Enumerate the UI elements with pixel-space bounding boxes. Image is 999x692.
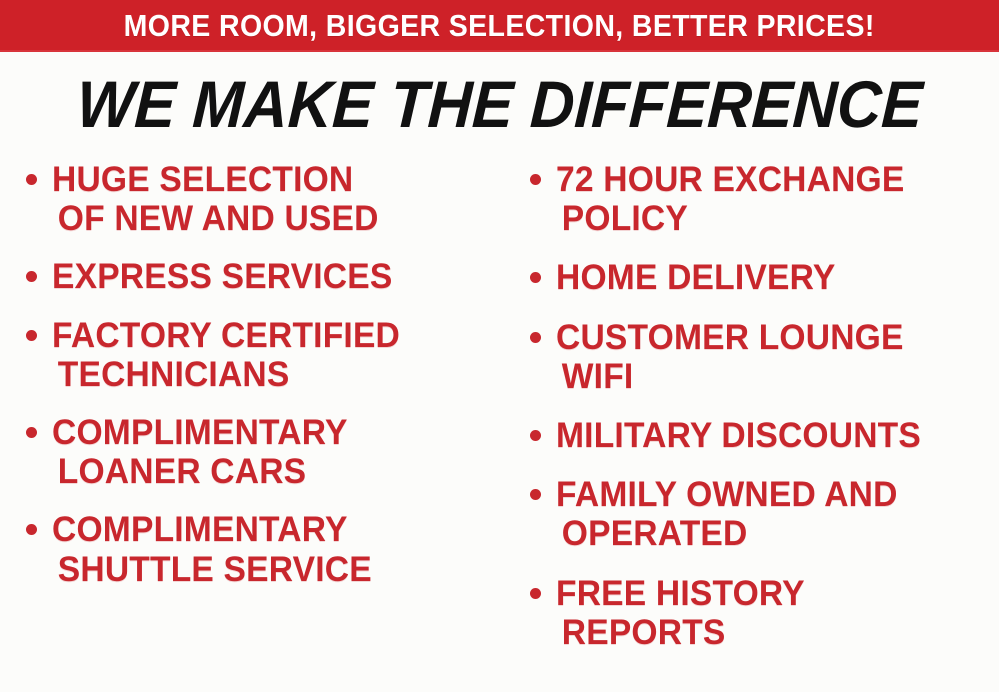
benefit-item-line: COMPLIMENTARY <box>52 510 490 549</box>
benefit-item-line: REPORTS <box>556 613 981 652</box>
benefit-item-label: EXPRESS SERVICES <box>52 257 490 296</box>
banner-headline-text: MORE ROOM, BIGGER SELECTION, BETTER PRIC… <box>124 10 875 41</box>
benefit-item-label: FACTORY CERTIFIEDTECHNICIANS <box>52 316 490 394</box>
bullet-dot-icon <box>530 588 541 599</box>
benefits-column-right: 72 HOUR EXCHANGEPOLICYHOME DELIVERYCUSTO… <box>508 152 999 672</box>
bullet-dot-icon <box>530 272 541 283</box>
benefit-item-line: HOME DELIVERY <box>556 258 981 297</box>
benefit-item: HOME DELIVERY <box>522 258 999 297</box>
benefit-item: 72 HOUR EXCHANGEPOLICY <box>522 160 999 238</box>
benefit-item: EXPRESS SERVICES <box>18 257 508 296</box>
benefit-item-line: CUSTOMER LOUNGE <box>556 318 981 357</box>
benefit-item-line: HUGE SELECTION <box>52 160 490 199</box>
benefit-item-line: FREE HISTORY <box>556 574 981 613</box>
benefit-item-line: OPERATED <box>556 514 981 553</box>
headline-container: WE MAKE THE DIFFERENCE <box>0 64 999 144</box>
benefit-item-line: EXPRESS SERVICES <box>52 257 490 296</box>
promotional-poster: MORE ROOM, BIGGER SELECTION, BETTER PRIC… <box>0 0 999 692</box>
benefit-item-line: FACTORY CERTIFIED <box>52 316 490 355</box>
bullet-dot-icon <box>26 524 37 535</box>
benefit-item-line: COMPLIMENTARY <box>52 413 490 452</box>
benefit-item-line: 72 HOUR EXCHANGE <box>556 160 981 199</box>
benefit-item-line: OF NEW AND USED <box>52 199 490 238</box>
benefit-item-line: WIFI <box>556 357 981 396</box>
benefit-item: FACTORY CERTIFIEDTECHNICIANS <box>18 316 508 394</box>
benefit-item-label: HUGE SELECTIONOF NEW AND USED <box>52 160 490 238</box>
benefit-item-label: COMPLIMENTARYSHUTTLE SERVICE <box>52 510 490 588</box>
benefit-item-line: POLICY <box>556 199 981 238</box>
benefit-item: COMPLIMENTARYSHUTTLE SERVICE <box>18 510 508 588</box>
benefit-item: COMPLIMENTARYLOANER CARS <box>18 413 508 491</box>
benefit-item: FREE HISTORYREPORTS <box>522 574 999 652</box>
bullet-dot-icon <box>530 174 541 185</box>
benefit-item: MILITARY DISCOUNTS <box>522 416 999 455</box>
benefit-item-label: FREE HISTORYREPORTS <box>556 574 981 652</box>
benefit-item-label: COMPLIMENTARYLOANER CARS <box>52 413 490 491</box>
benefit-item-label: FAMILY OWNED ANDOPERATED <box>556 475 981 553</box>
benefit-item-line: MILITARY DISCOUNTS <box>556 416 981 455</box>
bullet-dot-icon <box>26 330 37 341</box>
benefit-item-line: SHUTTLE SERVICE <box>52 550 490 589</box>
benefit-item-line: LOANER CARS <box>52 452 490 491</box>
bullet-dot-icon <box>530 430 541 441</box>
benefit-item-label: CUSTOMER LOUNGEWIFI <box>556 318 981 396</box>
benefit-item-label: HOME DELIVERY <box>556 258 981 297</box>
benefit-item-label: MILITARY DISCOUNTS <box>556 416 981 455</box>
bullet-dot-icon <box>530 489 541 500</box>
benefit-item: CUSTOMER LOUNGEWIFI <box>522 318 999 396</box>
benefit-item-line: TECHNICIANS <box>52 355 490 394</box>
benefit-item: HUGE SELECTIONOF NEW AND USED <box>18 160 508 238</box>
benefit-item-line: FAMILY OWNED AND <box>556 475 981 514</box>
bullet-dot-icon <box>26 271 37 282</box>
bullet-dot-icon <box>530 332 541 343</box>
top-banner: MORE ROOM, BIGGER SELECTION, BETTER PRIC… <box>0 0 999 52</box>
main-headline: WE MAKE THE DIFFERENCE <box>75 71 924 137</box>
benefits-column-left: HUGE SELECTIONOF NEW AND USEDEXPRESS SER… <box>0 152 508 608</box>
benefits-columns: HUGE SELECTIONOF NEW AND USEDEXPRESS SER… <box>0 152 999 692</box>
bullet-dot-icon <box>26 427 37 438</box>
bullet-dot-icon <box>26 174 37 185</box>
benefit-item: FAMILY OWNED ANDOPERATED <box>522 475 999 553</box>
benefit-item-label: 72 HOUR EXCHANGEPOLICY <box>556 160 981 238</box>
